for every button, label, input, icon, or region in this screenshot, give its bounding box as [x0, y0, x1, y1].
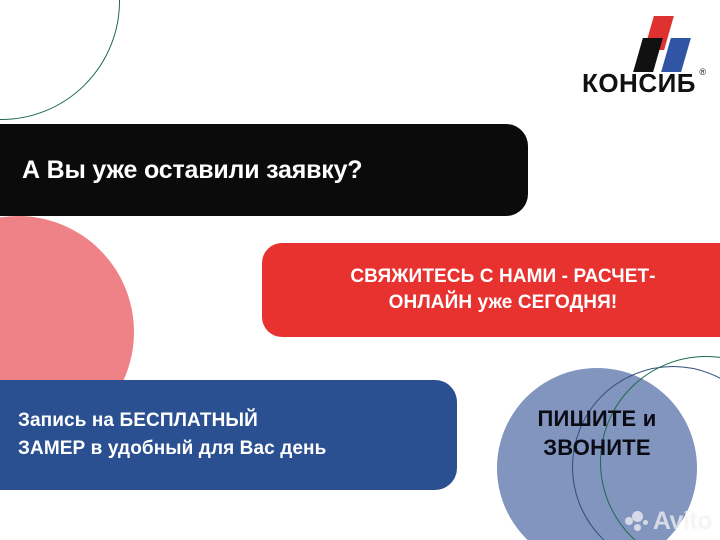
promo-banner-canvas: КОНСИБ ® А Вы уже оставили заявку? СВЯЖИ… [0, 0, 720, 540]
registered-trademark-symbol: ® [699, 68, 706, 77]
logo-wordmark: КОНСИБ [582, 70, 696, 96]
measurement-banner-line-2: ЗАМЕР в удобный для Вас день [18, 435, 326, 464]
measurement-banner-line-1: Запись на БЕСПЛАТНЫЙ [18, 407, 326, 436]
green-ring-decoration-top-left [0, 0, 120, 120]
company-logo: КОНСИБ ® [570, 16, 706, 106]
call-to-action-circle-text: ПИШИТЕ и ЗВОНИТЕ [497, 404, 697, 462]
cta-circle-line-1: ПИШИТЕ и [497, 404, 697, 433]
logo-parallelogram-black-icon [633, 38, 663, 72]
avito-watermark-text: Avito [653, 509, 712, 534]
contact-banner-text: СВЯЖИТЕСЬ С НАМИ - РАСЧЕТ- ОНЛАЙН уже СЕ… [284, 264, 720, 315]
avito-watermark: Avito [625, 509, 712, 534]
contact-banner: СВЯЖИТЕСЬ С НАМИ - РАСЧЕТ- ОНЛАЙН уже СЕ… [262, 243, 720, 337]
avito-dots-icon [625, 511, 651, 533]
question-banner-text: А Вы уже оставили заявку? [22, 156, 362, 185]
contact-banner-line-2: ОНЛАЙН уже СЕГОДНЯ! [284, 290, 720, 316]
cta-circle-line-2: ЗВОНИТЕ [497, 433, 697, 462]
contact-banner-line-1: СВЯЖИТЕСЬ С НАМИ - РАСЧЕТ- [284, 264, 720, 290]
measurement-banner: Запись на БЕСПЛАТНЫЙ ЗАМЕР в удобный для… [0, 380, 457, 490]
measurement-banner-text: Запись на БЕСПЛАТНЫЙ ЗАМЕР в удобный для… [18, 407, 326, 464]
question-banner: А Вы уже оставили заявку? [0, 124, 528, 216]
logo-mark-icon [626, 16, 692, 70]
